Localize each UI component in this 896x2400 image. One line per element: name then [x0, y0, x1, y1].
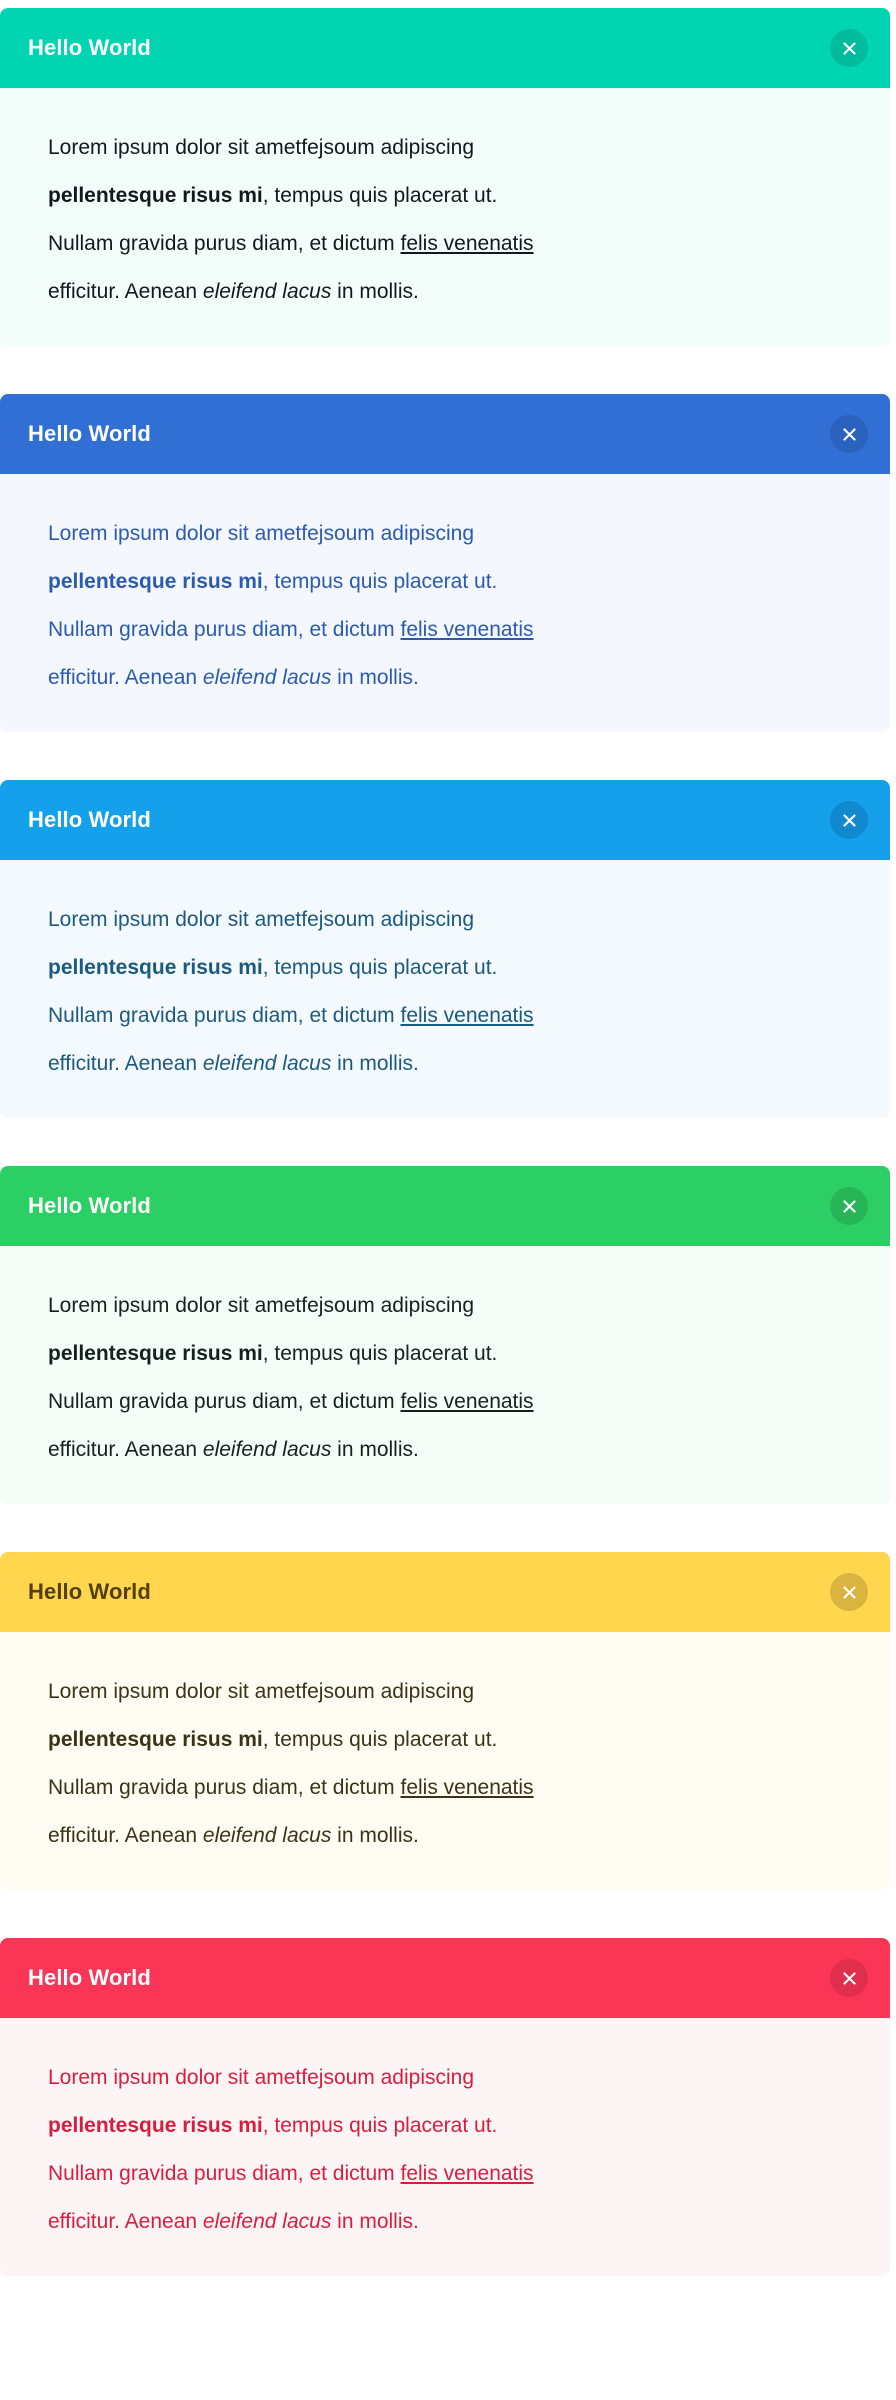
- alert-title: Hello World: [28, 1967, 151, 1989]
- close-icon-warning[interactable]: [830, 1573, 868, 1611]
- message-bold: pellentesque risus mi: [48, 570, 263, 593]
- felis-venenatis-link[interactable]: felis venenatis: [400, 232, 533, 255]
- message-bold: pellentesque risus mi: [48, 2114, 263, 2137]
- alert-body-warning: Lorem ipsum dolor sit ametfejsoum adipis…: [0, 1632, 890, 1890]
- alert-header-info: Hello World: [0, 780, 890, 860]
- message-after-link: efficitur. Aenean: [48, 2210, 203, 2233]
- alert-card-info: Hello World Lorem ipsum dolor sit ametfe…: [0, 780, 890, 1118]
- message-italic: eleifend lacus: [203, 1052, 331, 1075]
- message-after-link: efficitur. Aenean: [48, 666, 203, 689]
- alert-stack: Hello World Lorem ipsum dolor sit ametfe…: [0, 0, 896, 2276]
- close-icon-teal[interactable]: [830, 29, 868, 67]
- message-italic: eleifend lacus: [203, 666, 331, 689]
- alert-title: Hello World: [28, 423, 151, 445]
- alert-title: Hello World: [28, 809, 151, 831]
- felis-venenatis-link[interactable]: felis venenatis: [400, 1004, 533, 1027]
- felis-venenatis-link[interactable]: felis venenatis: [400, 1390, 533, 1413]
- alert-message: Lorem ipsum dolor sit ametfejsoum adipis…: [48, 124, 568, 316]
- alert-message: Lorem ipsum dolor sit ametfejsoum adipis…: [48, 1668, 568, 1860]
- alert-card-primary: Hello World Lorem ipsum dolor sit ametfe…: [0, 394, 890, 732]
- alert-card-warning: Hello World Lorem ipsum dolor sit ametfe…: [0, 1552, 890, 1890]
- message-tail: in mollis.: [331, 666, 419, 689]
- alert-card-danger: Hello World Lorem ipsum dolor sit ametfe…: [0, 1938, 890, 2276]
- alert-title: Hello World: [28, 37, 151, 59]
- alert-message: Lorem ipsum dolor sit ametfejsoum adipis…: [48, 896, 568, 1088]
- message-bold: pellentesque risus mi: [48, 1342, 263, 1365]
- close-icon-info[interactable]: [830, 801, 868, 839]
- message-bold: pellentesque risus mi: [48, 184, 263, 207]
- message-lead: Lorem ipsum dolor sit ametfejsoum adipis…: [48, 136, 474, 159]
- message-italic: eleifend lacus: [203, 280, 331, 303]
- alert-body-primary: Lorem ipsum dolor sit ametfejsoum adipis…: [0, 474, 890, 732]
- alert-message: Lorem ipsum dolor sit ametfejsoum adipis…: [48, 1282, 568, 1474]
- felis-venenatis-link[interactable]: felis venenatis: [400, 2162, 533, 2185]
- alert-body-info: Lorem ipsum dolor sit ametfejsoum adipis…: [0, 860, 890, 1118]
- message-after-link: efficitur. Aenean: [48, 1052, 203, 1075]
- close-icon-danger[interactable]: [830, 1959, 868, 1997]
- alert-header-teal: Hello World: [0, 8, 890, 88]
- alert-body-success: Lorem ipsum dolor sit ametfejsoum adipis…: [0, 1246, 890, 1504]
- message-tail: in mollis.: [331, 1438, 419, 1461]
- alert-body-teal: Lorem ipsum dolor sit ametfejsoum adipis…: [0, 88, 890, 346]
- felis-venenatis-link[interactable]: felis venenatis: [400, 1776, 533, 1799]
- message-tail: in mollis.: [331, 2210, 419, 2233]
- message-italic: eleifend lacus: [203, 1438, 331, 1461]
- message-italic: eleifend lacus: [203, 1824, 331, 1847]
- alert-header-warning: Hello World: [0, 1552, 890, 1632]
- alert-body-danger: Lorem ipsum dolor sit ametfejsoum adipis…: [0, 2018, 890, 2276]
- message-lead: Lorem ipsum dolor sit ametfejsoum adipis…: [48, 2066, 474, 2089]
- message-tail: in mollis.: [331, 280, 419, 303]
- message-tail: in mollis.: [331, 1824, 419, 1847]
- alert-message: Lorem ipsum dolor sit ametfejsoum adipis…: [48, 2054, 568, 2246]
- message-italic: eleifend lacus: [203, 2210, 331, 2233]
- message-bold: pellentesque risus mi: [48, 956, 263, 979]
- close-icon-success[interactable]: [830, 1187, 868, 1225]
- message-lead: Lorem ipsum dolor sit ametfejsoum adipis…: [48, 1294, 474, 1317]
- alert-header-success: Hello World: [0, 1166, 890, 1246]
- alert-card-success: Hello World Lorem ipsum dolor sit ametfe…: [0, 1166, 890, 1504]
- message-bold: pellentesque risus mi: [48, 1728, 263, 1751]
- message-tail: in mollis.: [331, 1052, 419, 1075]
- alert-card-teal: Hello World Lorem ipsum dolor sit ametfe…: [0, 8, 890, 346]
- message-lead: Lorem ipsum dolor sit ametfejsoum adipis…: [48, 522, 474, 545]
- alert-header-primary: Hello World: [0, 394, 890, 474]
- felis-venenatis-link[interactable]: felis venenatis: [400, 618, 533, 641]
- message-lead: Lorem ipsum dolor sit ametfejsoum adipis…: [48, 908, 474, 931]
- alert-header-danger: Hello World: [0, 1938, 890, 2018]
- message-after-link: efficitur. Aenean: [48, 1824, 203, 1847]
- alert-title: Hello World: [28, 1195, 151, 1217]
- message-lead: Lorem ipsum dolor sit ametfejsoum adipis…: [48, 1680, 474, 1703]
- message-after-link: efficitur. Aenean: [48, 1438, 203, 1461]
- message-after-link: efficitur. Aenean: [48, 280, 203, 303]
- alert-title: Hello World: [28, 1581, 151, 1603]
- close-icon-primary[interactable]: [830, 415, 868, 453]
- alert-message: Lorem ipsum dolor sit ametfejsoum adipis…: [48, 510, 568, 702]
